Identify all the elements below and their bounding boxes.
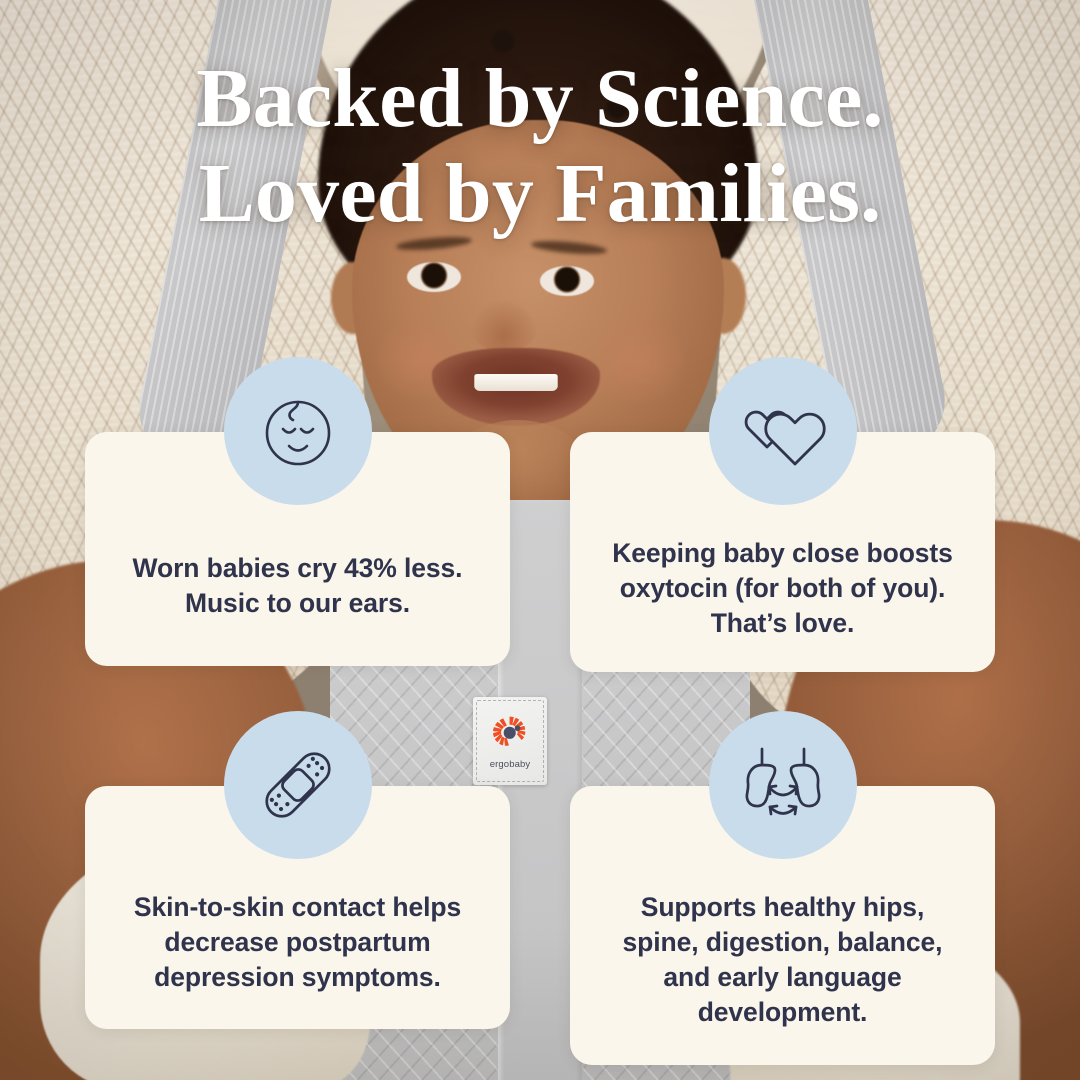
headline-line-1: Backed by Science. [196, 52, 883, 145]
benefit-card-1-text: Worn babies cry 43% less. Music to our e… [115, 551, 480, 621]
sleeping-baby-face-icon [224, 357, 372, 505]
bandage-icon [224, 711, 372, 859]
benefit-card-3-text: Skin-to-skin contact helps decrease post… [115, 890, 480, 996]
baby-eye-left [407, 262, 461, 292]
baby-eye-right [540, 266, 594, 296]
baby-nose [470, 300, 538, 352]
benefit-card-2-text: Keeping baby close boosts oxytocin (for … [600, 536, 965, 642]
benefit-card-grid: Worn babies cry 43% less. Music to our e… [85, 357, 995, 1065]
headline-line-2: Loved by Families. [56, 147, 1024, 242]
two-hearts-icon [709, 357, 857, 505]
benefit-card-4-text: Supports healthy hips, spine, digestion,… [600, 890, 965, 1031]
benefit-card-4: Supports healthy hips, spine, digestion,… [570, 711, 995, 1065]
card-row-bottom: Skin-to-skin contact helps decrease post… [85, 711, 995, 1065]
page-title: Backed by Science. Loved by Families. [0, 52, 1080, 242]
hip-joint-icon [709, 711, 857, 859]
poster: ergobaby Backed by Science. Loved by Fam… [0, 0, 1080, 1080]
benefit-card-3: Skin-to-skin contact helps decrease post… [85, 711, 510, 1065]
benefit-card-1: Worn babies cry 43% less. Music to our e… [85, 357, 510, 672]
card-row-top: Worn babies cry 43% less. Music to our e… [85, 357, 995, 672]
benefit-card-2: Keeping baby close boosts oxytocin (for … [570, 357, 995, 672]
